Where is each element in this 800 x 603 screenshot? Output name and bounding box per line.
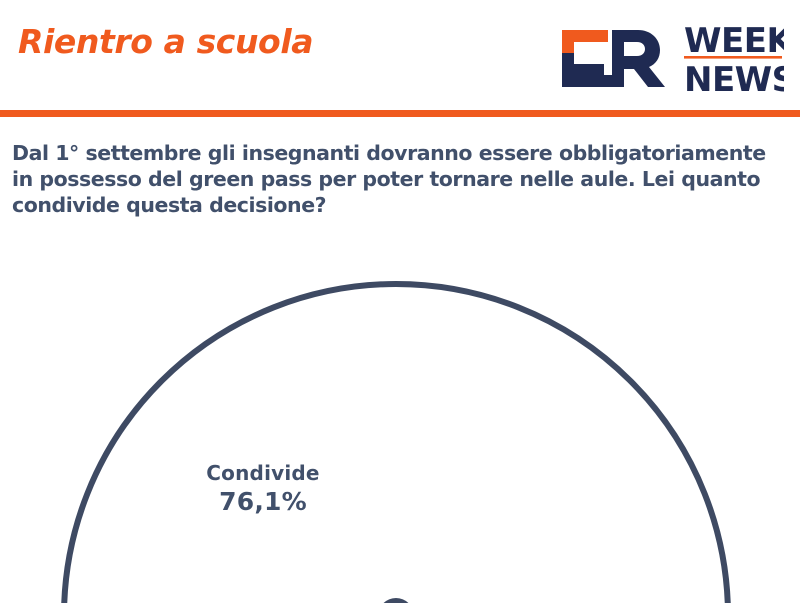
slide-header: Rientro a scuola WEEK NEWS — [0, 0, 800, 110]
poll-question: Dal 1° settembre gli insegnanti dovranno… — [12, 140, 792, 218]
pie-chart: Condivide 76,1% — [0, 232, 800, 603]
header-divider — [0, 110, 800, 117]
page-title: Rientro a scuola — [18, 22, 313, 61]
question-line-2: in possesso del green pass per poter tor… — [12, 166, 792, 192]
pie-slice-name: Condivide — [168, 462, 358, 486]
logo-word-top: WEEK — [684, 21, 784, 61]
pie-slice-value: 76,1% — [168, 487, 358, 517]
question-line-1: Dal 1° settembre gli insegnanti dovranno… — [12, 140, 792, 166]
monogram-r-shape — [612, 30, 665, 87]
er-monogram-icon — [562, 30, 665, 87]
logo-word-bottom: NEWS — [684, 60, 784, 96]
question-line-3: condivide questa decisione? — [12, 192, 792, 218]
slide-root: Rientro a scuola WEEK NEWS Dal 1° settem… — [0, 0, 800, 603]
pie-outline-circle — [64, 284, 728, 603]
monogram-accent-shape — [562, 30, 608, 53]
er-week-news-logo: WEEK NEWS — [556, 14, 784, 96]
pie-chart-svg — [0, 232, 800, 603]
logo-rule — [684, 56, 782, 59]
pie-center-dot — [378, 598, 414, 603]
pie-slice-label-condivide: Condivide 76,1% — [168, 462, 358, 516]
